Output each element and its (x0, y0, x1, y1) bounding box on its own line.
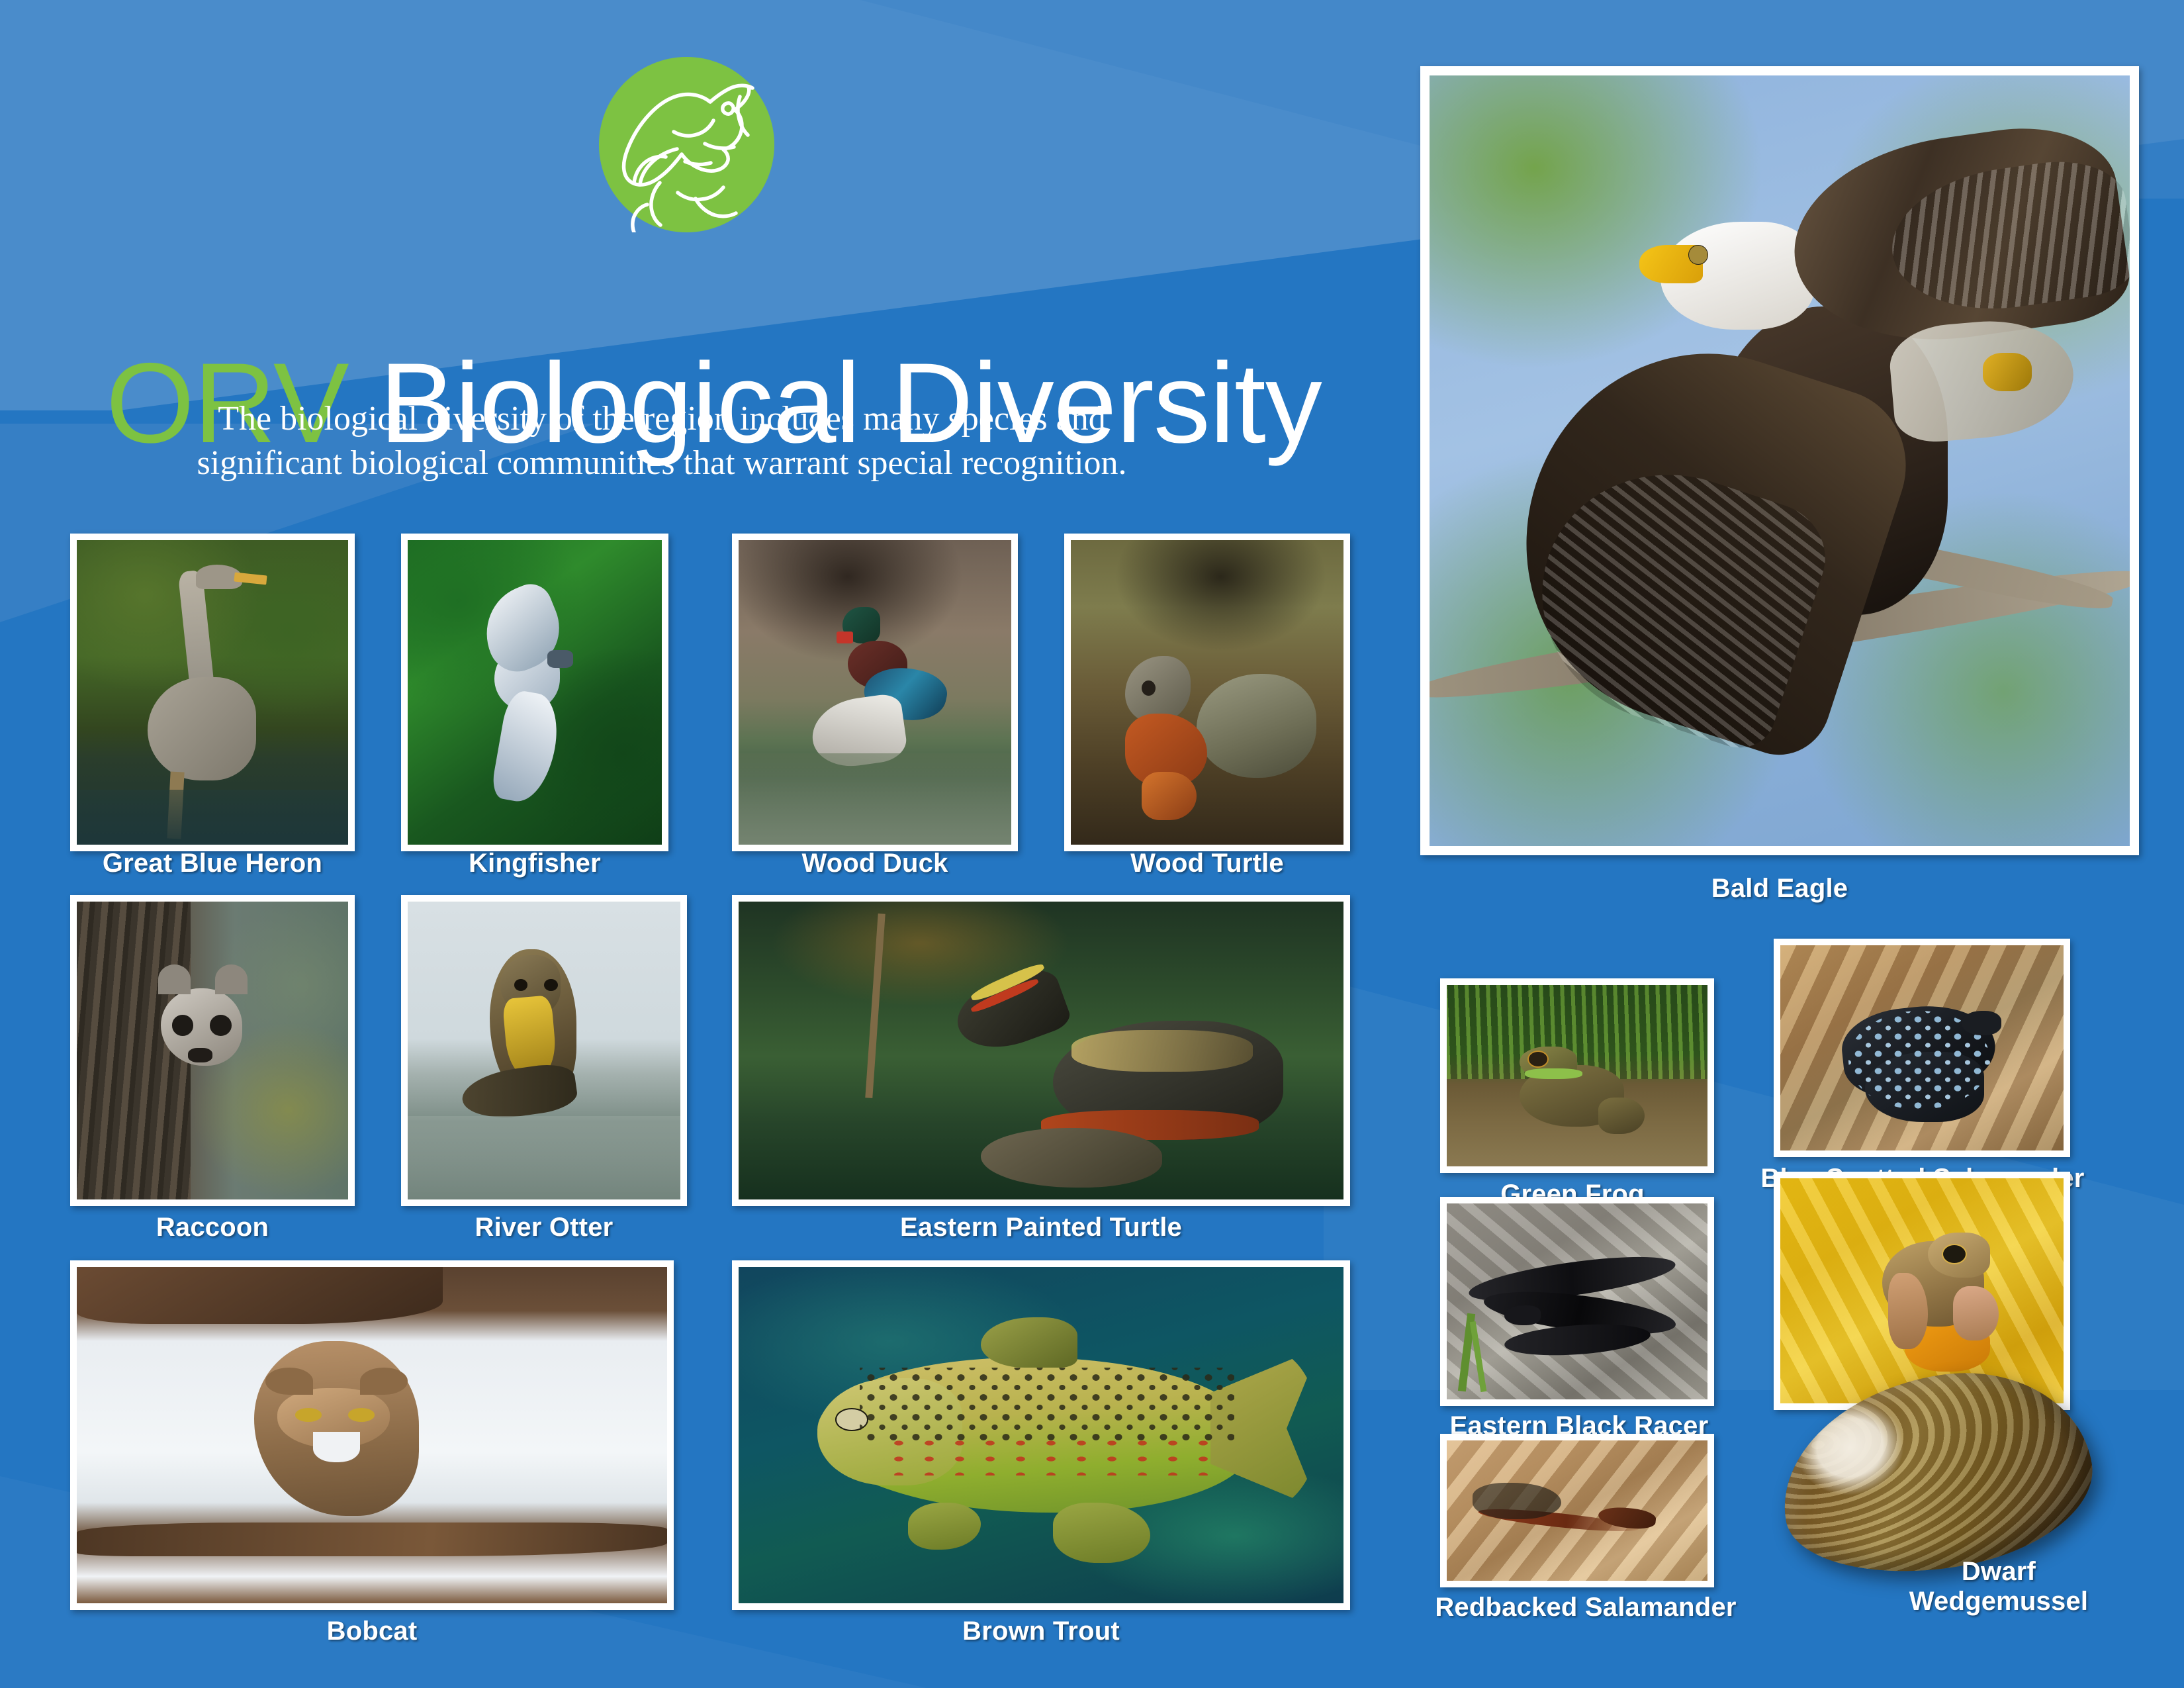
photo-redbacked-salamander[interactable] (1440, 1434, 1714, 1587)
leaping-trout-logo-icon (599, 57, 774, 232)
caption-wood-turtle: Wood Turtle (1064, 849, 1350, 878)
caption-redbacked-salamander: Redbacked Salamander (1400, 1593, 1771, 1622)
photo-wood-frog[interactable] (1774, 1172, 2070, 1410)
caption-raccoon: Raccoon (70, 1213, 355, 1243)
subtitle-line-1: The biological diversity of the region i… (93, 397, 1231, 442)
caption-wood-duck: Wood Duck (732, 849, 1018, 878)
caption-brown-trout: Brown Trout (732, 1617, 1350, 1646)
photo-image-great-blue-heron (77, 540, 348, 845)
photo-dwarf-wedgemussel[interactable] (1780, 1377, 2091, 1569)
photo-image-wood-turtle (1071, 540, 1343, 845)
subtitle-line-2: significant biological communities that … (93, 442, 1231, 486)
photo-wood-duck[interactable] (732, 534, 1018, 851)
caption-great-blue-heron: Great Blue Heron (70, 849, 355, 878)
photo-image-bobcat (77, 1267, 667, 1603)
photo-eastern-black-racer[interactable] (1440, 1197, 1714, 1406)
caption-bald-eagle: Bald Eagle (1420, 874, 2139, 904)
photo-image-blue-spotted-salamander (1780, 945, 2064, 1150)
photo-bobcat[interactable] (70, 1260, 674, 1610)
photo-bald-eagle[interactable] (1420, 66, 2139, 855)
photo-image-eastern-black-racer (1447, 1203, 1707, 1399)
caption-eastern-painted-turtle: Eastern Painted Turtle (732, 1213, 1350, 1243)
subtitle: The biological diversity of the region i… (93, 397, 1231, 485)
caption-kingfisher: Kingfisher (401, 849, 668, 878)
photo-great-blue-heron[interactable] (70, 534, 355, 851)
caption-river-otter: River Otter (401, 1213, 687, 1243)
photo-image-dwarf-wedgemussel (1767, 1354, 2105, 1592)
caption-bobcat: Bobcat (70, 1617, 674, 1646)
photo-image-brown-trout (739, 1267, 1343, 1603)
photo-wood-turtle[interactable] (1064, 534, 1350, 851)
photo-kingfisher[interactable] (401, 534, 668, 851)
photo-image-green-frog (1447, 985, 1707, 1166)
poster-canvas: ORV Biological Diversity The biological … (0, 0, 2184, 1688)
photo-river-otter[interactable] (401, 895, 687, 1206)
photo-image-redbacked-salamander (1447, 1440, 1707, 1581)
photo-image-kingfisher (408, 540, 662, 845)
photo-image-eastern-painted-turtle (739, 902, 1343, 1199)
photo-raccoon[interactable] (70, 895, 355, 1206)
photo-image-wood-duck (739, 540, 1011, 845)
photo-blue-spotted-salamander[interactable] (1774, 939, 2070, 1157)
photo-green-frog[interactable] (1440, 978, 1714, 1173)
photo-image-bald-eagle (1430, 75, 2130, 846)
photo-image-river-otter (408, 902, 680, 1199)
photo-brown-trout[interactable] (732, 1260, 1350, 1610)
photo-eastern-painted-turtle[interactable] (732, 895, 1350, 1206)
caption-dwarf-wedgemussel: Dwarf Wedgemussel (1866, 1557, 2131, 1617)
photo-image-raccoon (77, 902, 348, 1199)
photo-image-wood-frog (1780, 1178, 2064, 1403)
